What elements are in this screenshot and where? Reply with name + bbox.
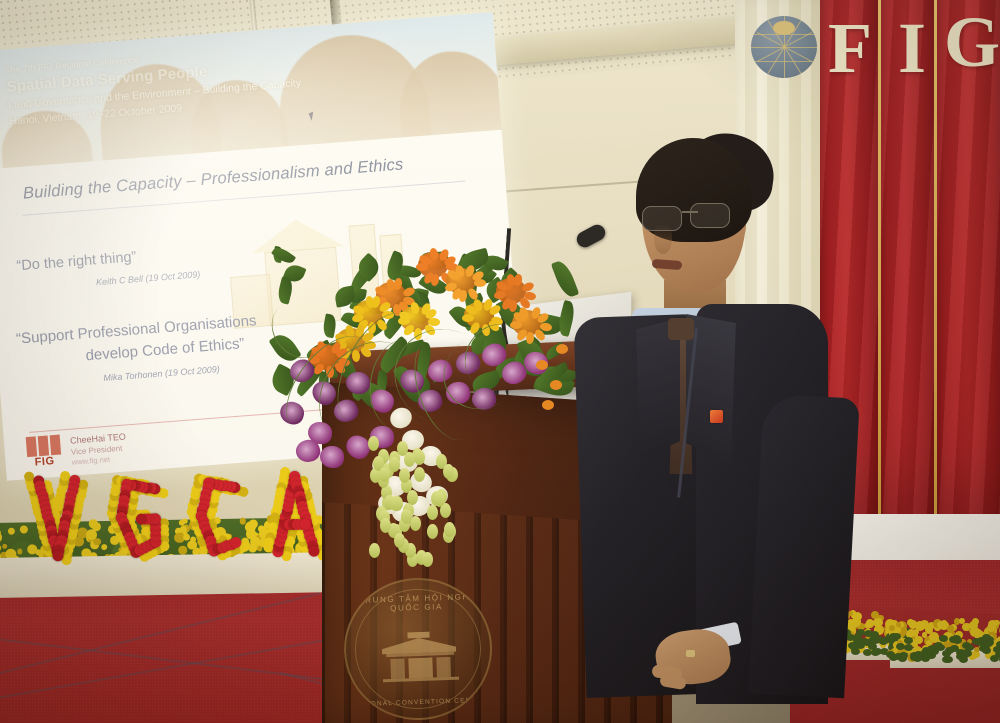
banner-gold-trim [934, 0, 937, 514]
convention-center-icon [373, 630, 467, 683]
mum-flower [972, 618, 980, 626]
foliage-leaf [551, 258, 580, 299]
podium-floral-arrangement [250, 240, 580, 540]
eyeglasses-icon [638, 202, 750, 230]
finger-ring [686, 650, 695, 657]
flower-bud [443, 464, 454, 479]
flower-bud [414, 450, 425, 465]
quote-1-text: “Do the right thing” [16, 248, 137, 277]
foliage [871, 637, 880, 644]
flower-bud [394, 533, 405, 548]
quote-2-attribution: Mika Torhonen (19 Oct 2009) [103, 364, 220, 383]
conference-photo-scene: The 7th FIG Regional Conference Spatial … [0, 0, 1000, 723]
banner-letter-g: G [944, 6, 1000, 78]
small-bud [550, 380, 562, 390]
banner-letter-f: F [828, 12, 872, 84]
mum-flower [937, 621, 945, 629]
mum-flower [915, 621, 925, 631]
foliage [939, 635, 948, 642]
foliage [962, 642, 971, 649]
suit-sleeve-arm [748, 394, 860, 699]
small-bud [542, 400, 554, 410]
foliage [898, 655, 907, 662]
mum-flower [907, 619, 914, 626]
foliage [950, 645, 959, 652]
flower-bud [390, 496, 401, 511]
foliage [896, 643, 905, 650]
flower-bud [427, 505, 438, 520]
foliage [972, 638, 981, 645]
fig-globe-icon [751, 16, 817, 78]
foliage-leaf [271, 244, 297, 267]
fig-lapel-pin-icon [710, 410, 723, 423]
flower-bud [427, 524, 438, 539]
banner-letter-i: I [898, 12, 926, 84]
quote-1-attribution: Keith C Bell (19 Oct 2009) [96, 269, 201, 287]
foliage [949, 636, 958, 643]
mum-flower [988, 620, 997, 629]
yellow-mum-cluster [886, 598, 1000, 654]
orchid-bloom [320, 446, 344, 468]
foliage [962, 649, 971, 656]
necktie-knot [668, 318, 694, 340]
mum-flower [896, 622, 901, 627]
speaker-person [560, 128, 870, 723]
flower-bud [389, 457, 400, 472]
flower-bud [379, 467, 390, 482]
small-bud [556, 344, 568, 354]
venue-seal-emblem: TRUNG TÂM HỘI NGHỊ QUỐC GIA NATIONAL CON… [342, 575, 495, 722]
small-bud [536, 360, 548, 370]
foliage [993, 646, 1000, 653]
banner-gold-trim [878, 0, 881, 514]
foliage [930, 648, 939, 655]
